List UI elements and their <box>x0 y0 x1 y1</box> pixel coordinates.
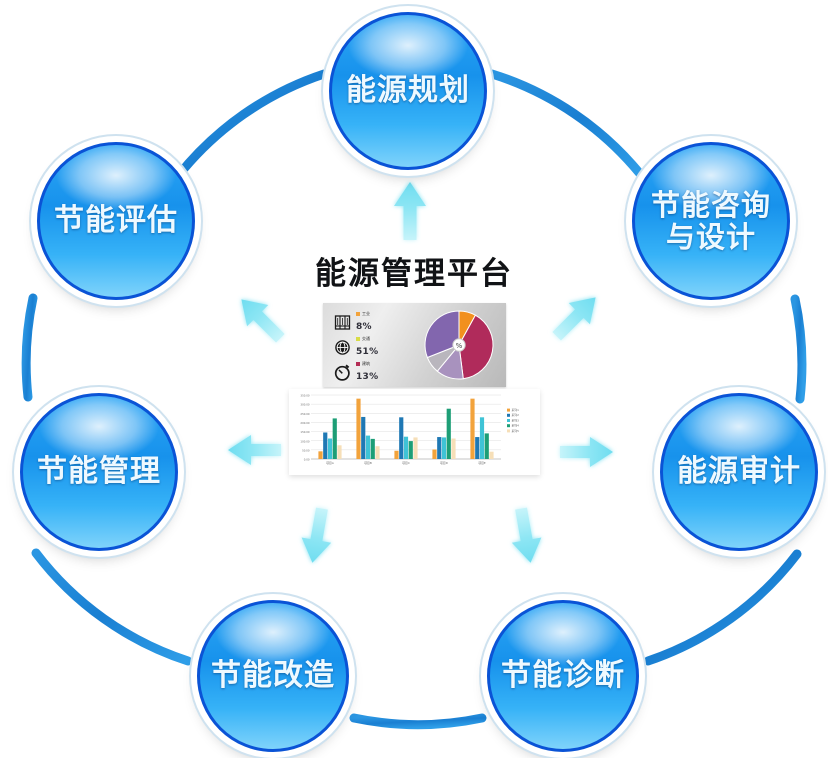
node-saving-management[interactable]: 节能管理 <box>20 393 178 551</box>
bar <box>480 417 484 459</box>
node-label: 节能改造 <box>207 659 339 693</box>
node-energy-planning[interactable]: 能源规划 <box>329 12 487 170</box>
kpi-panel: 工业 8% <box>323 303 506 387</box>
building-icon <box>332 312 352 332</box>
legend-label: 系列5 <box>512 429 520 433</box>
legend-label: 系列3 <box>512 418 520 422</box>
bar <box>356 399 360 459</box>
bar <box>375 446 379 459</box>
node-label: 能源规划 <box>342 74 474 108</box>
arrow-up-right <box>546 287 606 347</box>
bar <box>371 439 375 459</box>
legend-percent: 8% <box>356 322 372 332</box>
y-tick-label: 350.00 <box>300 394 309 398</box>
legend-item: 工业 8% <box>332 310 416 334</box>
y-tick-label: 150.00 <box>300 430 309 434</box>
bar-chart: 项目A项目B项目C项目D项目E 350.00300.00250.00200.00… <box>289 389 540 475</box>
arrow-up <box>394 182 426 240</box>
node-label: 节能评估 <box>50 204 182 238</box>
bar <box>447 409 451 459</box>
page-title: 能源管理平台 <box>0 248 828 293</box>
legend-name: 交通 <box>356 337 378 341</box>
bar <box>394 451 398 459</box>
bar <box>333 418 337 459</box>
legend-name: 建筑 <box>356 362 378 366</box>
bar <box>409 441 413 459</box>
x-tick-label: 项目E <box>478 461 486 465</box>
bar <box>323 432 327 459</box>
legend-swatch <box>507 419 510 422</box>
bar <box>432 449 436 459</box>
pie-center-badge: % <box>456 342 463 350</box>
bar <box>366 436 370 459</box>
legend-swatch <box>507 414 510 417</box>
x-tick-label: 项目D <box>440 461 448 465</box>
legend-percent: 13% <box>356 372 378 382</box>
bar <box>328 439 332 459</box>
bar <box>470 399 474 459</box>
legend-name: 工业 <box>356 312 372 316</box>
bar <box>442 437 446 459</box>
legend-label: 系列1 <box>512 408 520 412</box>
bar <box>475 437 479 459</box>
arrow-down-right <box>506 506 545 565</box>
y-tick-label: 50.00 <box>302 448 310 452</box>
bar <box>318 451 322 459</box>
y-tick-label: 250.00 <box>300 412 309 416</box>
bar <box>337 445 341 459</box>
node-label: 节能诊断 <box>497 659 629 693</box>
node-label: 节能咨询 与设计 <box>647 189 775 254</box>
arrow-right <box>560 437 613 467</box>
legend-swatch <box>507 409 510 412</box>
globe-icon <box>332 337 352 357</box>
diagram-canvas: 能源规划 节能咨询 与设计 能源审计 节能诊断 节能改造 节能管理 节能评估 能… <box>0 0 828 758</box>
arrow-left <box>228 435 281 465</box>
node-saving-diagnosis[interactable]: 节能诊断 <box>487 600 639 752</box>
pie-chart: % <box>422 308 496 382</box>
legend-item: 建筑 13% <box>332 360 416 384</box>
bar <box>361 417 365 459</box>
node-energy-audit[interactable]: 能源审计 <box>660 393 818 551</box>
y-tick-label: 0.00 <box>304 458 310 462</box>
x-tick-label: 项目B <box>364 461 372 465</box>
x-tick-label: 项目A <box>326 461 334 465</box>
arrow-up-left <box>231 289 291 349</box>
legend-swatch <box>507 424 510 427</box>
node-saving-retrofit[interactable]: 节能改造 <box>197 600 349 752</box>
x-tick-label: 项目C <box>402 461 410 465</box>
node-label: 能源审计 <box>673 455 805 489</box>
bar <box>451 439 455 459</box>
node-label: 节能管理 <box>33 455 165 489</box>
legend-label: 系列2 <box>512 413 520 417</box>
arrow-down-left <box>298 506 337 565</box>
bar <box>404 437 408 459</box>
dashboard-illustration: 工业 8% <box>289 303 540 475</box>
legend-label: 系列4 <box>512 424 520 428</box>
y-tick-label: 100.00 <box>300 439 309 443</box>
bar <box>413 437 417 459</box>
legend-percent: 51% <box>356 347 378 357</box>
bar <box>399 417 403 459</box>
y-tick-label: 200.00 <box>300 421 309 425</box>
legend-item: 交通 51% <box>332 335 416 359</box>
y-tick-label: 300.00 <box>300 403 309 407</box>
legend-swatch <box>507 429 510 432</box>
bar <box>489 452 493 459</box>
bar <box>437 437 441 459</box>
kpi-legend: 工业 8% <box>332 310 416 385</box>
bar <box>485 433 489 459</box>
stopwatch-icon <box>332 362 352 382</box>
